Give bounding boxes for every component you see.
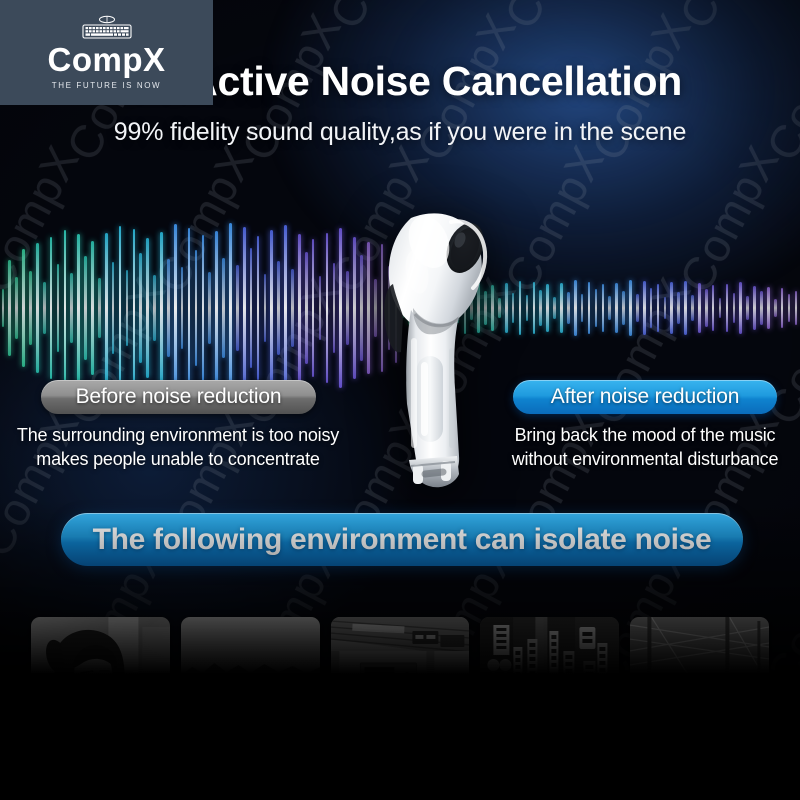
waveform-after-bar xyxy=(781,288,784,328)
waveform-before-bar xyxy=(91,241,94,375)
description-after-line1: Bring back the mood of the music xyxy=(495,424,795,448)
waveform-after-bar xyxy=(705,289,708,327)
waveform-after-bar xyxy=(684,281,687,335)
waveform-before-bar xyxy=(112,262,115,354)
description-after: Bring back the mood of the music without… xyxy=(495,424,795,472)
waveform-after-bar xyxy=(512,293,515,323)
earbud-product-image xyxy=(355,198,505,498)
waveform-after-bar xyxy=(588,282,591,334)
waveform-before-bar xyxy=(250,248,253,368)
waveform-after-bar xyxy=(643,281,646,335)
waveform-after-bar xyxy=(615,283,618,333)
environment-photo-strip xyxy=(31,617,769,782)
waveform-after-bar xyxy=(567,292,570,324)
waveform-after-bar xyxy=(739,282,742,334)
waveform-before-bar xyxy=(346,271,349,345)
waveform-after-bar xyxy=(539,290,542,326)
waveform-after-bar xyxy=(595,289,598,327)
waveform-before-bar xyxy=(339,228,342,388)
waveform-before-bar xyxy=(202,235,205,381)
waveform-before-bar xyxy=(312,239,315,377)
waveform-before-bar xyxy=(277,261,280,355)
waveform-before-bar xyxy=(22,249,25,367)
waveform-after-bar xyxy=(526,295,529,321)
waveform-before-bar xyxy=(319,276,322,340)
badge-before-noise-reduction: Before noise reduction xyxy=(41,380,316,414)
waveform-before-bar xyxy=(229,223,232,393)
brand-tagline: THE FUTURE IS NOW xyxy=(52,81,161,90)
waveform-after-bar xyxy=(574,280,577,336)
waveform-before-bar xyxy=(70,273,73,343)
waveform-before-bar xyxy=(270,230,273,386)
waveform-after-bar xyxy=(767,287,770,329)
badge-after-noise-reduction: After noise reduction xyxy=(513,380,777,414)
waveform-before-bar xyxy=(305,252,308,364)
waveform-after-bar xyxy=(505,283,508,333)
waveform-before-bar xyxy=(333,263,336,353)
section-banner: The following environment can isolate no… xyxy=(61,513,743,566)
waveform-before-bar xyxy=(126,270,129,346)
waveform-after-bar xyxy=(629,280,632,336)
waveform-before-bar xyxy=(133,229,136,387)
product-banner-page: CompXCompXCompXCompXCompXCompXCompXCompX… xyxy=(0,0,800,800)
waveform-after-bar xyxy=(691,295,694,321)
keyboard-icon xyxy=(77,15,137,41)
waveform-after-bar xyxy=(726,284,729,332)
waveform-before-bar xyxy=(98,278,101,338)
photo-high-speed-train xyxy=(630,617,769,782)
waveform-after-bar xyxy=(788,294,791,322)
waveform-before-bar xyxy=(257,236,260,380)
waveform-after-bar xyxy=(677,292,680,324)
waveform-after-bar xyxy=(657,284,660,332)
waveform-before-bar xyxy=(8,260,11,356)
photo-subway-station xyxy=(331,617,470,782)
waveform-before-bar xyxy=(195,250,198,366)
waveform-before-bar xyxy=(243,227,246,389)
photo-city-street xyxy=(480,617,619,782)
waveform-before-bar xyxy=(84,256,87,360)
waveform-before-bar xyxy=(105,233,108,383)
waveform-before-bar xyxy=(36,243,39,373)
waveform-before-bar xyxy=(188,228,191,388)
waveform-before-bar xyxy=(146,238,149,378)
brand-logo: CompX THE FUTURE IS NOW xyxy=(0,0,213,105)
photo-traffic-jam xyxy=(181,617,320,782)
waveform-after-bar xyxy=(664,297,667,319)
waveform-after-bar xyxy=(650,288,653,328)
waveform-after-bar xyxy=(795,291,798,325)
brand-name-accent: X xyxy=(143,41,166,78)
description-before-line2: makes people unable to concentrate xyxy=(8,448,348,472)
page-subtitle: 99% fidelity sound quality,as if you wer… xyxy=(0,118,800,147)
waveform-before-bar xyxy=(326,233,329,383)
waveform-after-bar xyxy=(733,293,736,323)
waveform-after-bar xyxy=(636,294,639,322)
brand-name-main: Comp xyxy=(47,41,143,78)
waveform-before-bar xyxy=(208,272,211,344)
waveform-before-bar xyxy=(222,258,225,358)
photo-woman-portrait xyxy=(31,617,170,782)
waveform-before-bar xyxy=(174,224,177,392)
waveform-after-bar xyxy=(670,282,673,334)
waveform-before-bar xyxy=(291,269,294,347)
waveform-before-bar xyxy=(57,264,60,352)
waveform-before-bar xyxy=(160,232,163,384)
waveform-before-bar xyxy=(236,265,239,351)
waveform-after-bar xyxy=(602,284,605,332)
waveform-after-bar xyxy=(698,283,701,333)
waveform-after-bar xyxy=(608,296,611,320)
waveform-before-bar xyxy=(50,237,53,379)
waveform-after-bar xyxy=(712,285,715,331)
waveform-before-bar xyxy=(181,267,184,349)
waveform-after-bar xyxy=(622,291,625,325)
waveform-after-bar xyxy=(746,296,749,320)
waveform-after-bar xyxy=(774,299,777,317)
waveform-after-bar xyxy=(553,297,556,319)
waveform-after-bar xyxy=(533,282,536,334)
waveform-before-bar xyxy=(215,231,218,385)
waveform-after-bar xyxy=(719,298,722,318)
waveform-before-bar xyxy=(167,259,170,357)
description-before-line1: The surrounding environment is too noisy xyxy=(8,424,348,448)
waveform-before-bar xyxy=(298,234,301,382)
waveform-before-bar xyxy=(119,226,122,390)
waveform-before-bar xyxy=(29,271,32,345)
waveform-before-bar xyxy=(139,253,142,363)
waveform-after-bar xyxy=(753,286,756,330)
waveform-after-bar xyxy=(581,294,584,322)
waveform-before-bar xyxy=(15,277,18,339)
waveform-before-bar xyxy=(64,230,67,386)
waveform-before-bar xyxy=(43,282,46,334)
waveform-after-bar xyxy=(519,281,522,335)
waveform-before-bar xyxy=(2,289,5,327)
description-before: The surrounding environment is too noisy… xyxy=(8,424,348,472)
waveform-before-bar xyxy=(77,234,80,382)
description-after-line2: without environmental disturbance xyxy=(495,448,795,472)
waveform-before-bar xyxy=(284,225,287,391)
waveform-after-bar xyxy=(560,283,563,333)
waveform-before-bar xyxy=(264,274,267,342)
brand-name: CompX xyxy=(47,43,165,76)
waveform-after-bar xyxy=(760,291,763,325)
waveform-before-bar xyxy=(153,275,156,341)
waveform-after-bar xyxy=(546,284,549,332)
